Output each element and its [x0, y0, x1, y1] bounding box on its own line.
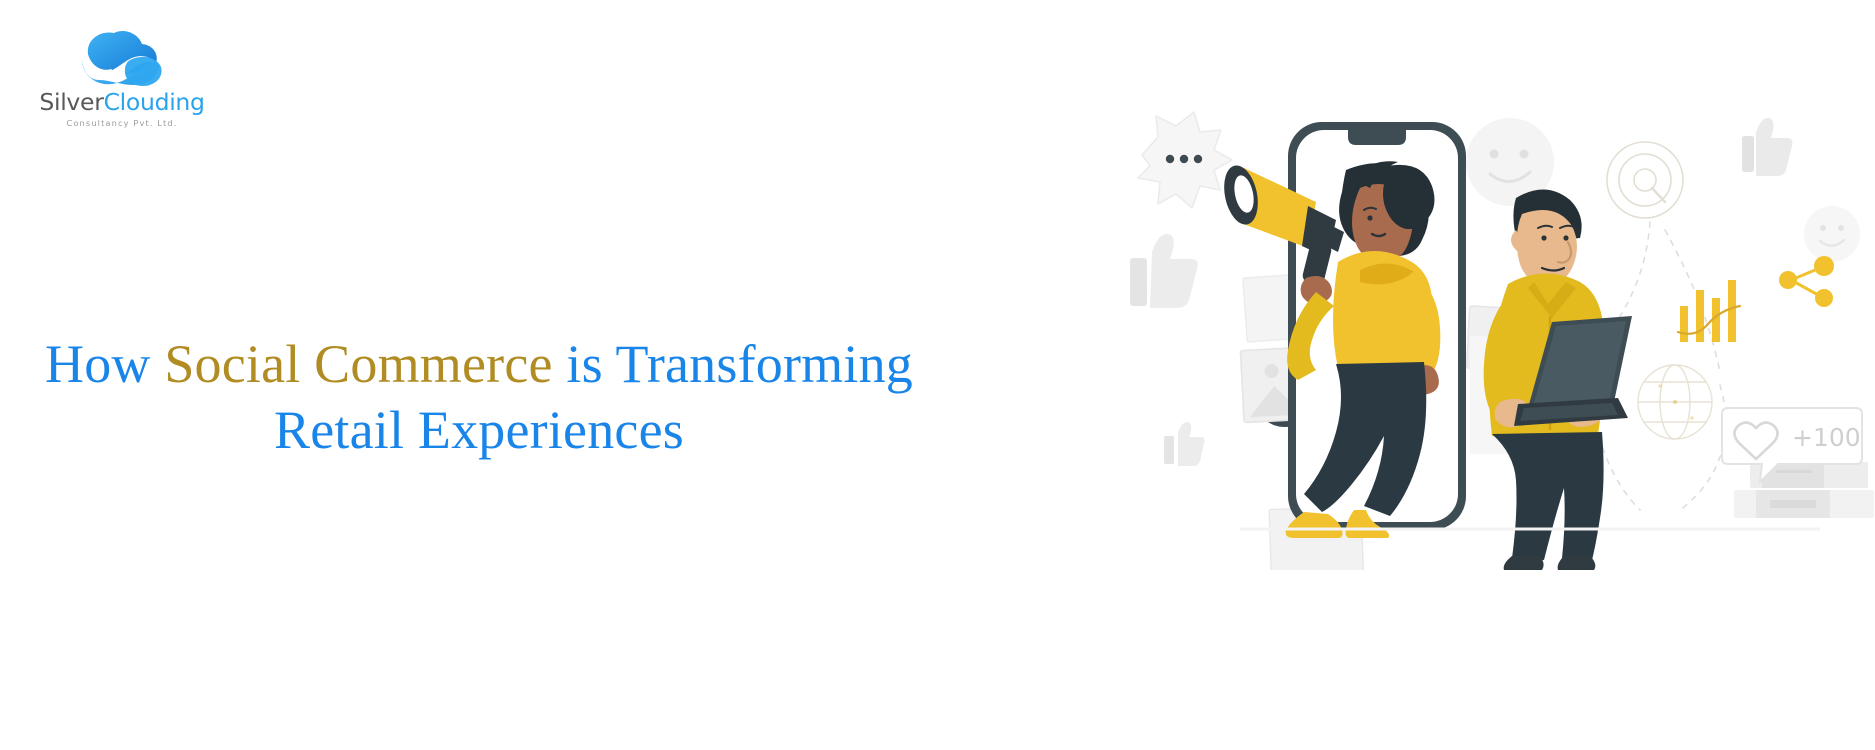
brand-name-part1: Silver	[39, 88, 103, 116]
page-title: How Social Commerce is Transforming Reta…	[40, 332, 918, 464]
thumbs-up-icon	[1742, 118, 1792, 176]
blog-header-banner: SilverClouding Consultancy Pvt. Ltd. How…	[0, 0, 1875, 750]
thumbs-up-icon	[1164, 422, 1205, 466]
headline-segment-gold: Social Commerce	[164, 334, 552, 394]
thumbs-up-icon	[1130, 234, 1198, 308]
headline-segment-line2: Retail Experiences	[274, 400, 684, 460]
speech-bubble-burst	[1138, 112, 1232, 208]
stacked-books-icon	[1734, 462, 1874, 518]
brand-name-part2: Clouding	[104, 88, 205, 116]
man-with-laptop	[1470, 189, 1632, 570]
brand-wordmark: SilverClouding	[32, 91, 212, 115]
headline-segment-blue-end: is Transforming	[566, 334, 913, 394]
bar-chart-icon	[1678, 280, 1740, 342]
cloud-swoosh-logo-icon	[58, 24, 168, 90]
brand-tagline: Consultancy Pvt. Ltd.	[32, 118, 212, 128]
search-target-icon	[1607, 142, 1683, 218]
brand-logo[interactable]: SilverClouding Consultancy Pvt. Ltd.	[32, 24, 212, 128]
like-counter-label: +100	[1792, 423, 1861, 452]
headline-segment-blue-start: How	[45, 334, 151, 394]
share-network-icon	[1779, 256, 1834, 307]
globe-wireframe-icon	[1638, 365, 1712, 439]
social-commerce-illustration: P	[1120, 110, 1875, 570]
smiley-face-icon	[1804, 206, 1860, 262]
